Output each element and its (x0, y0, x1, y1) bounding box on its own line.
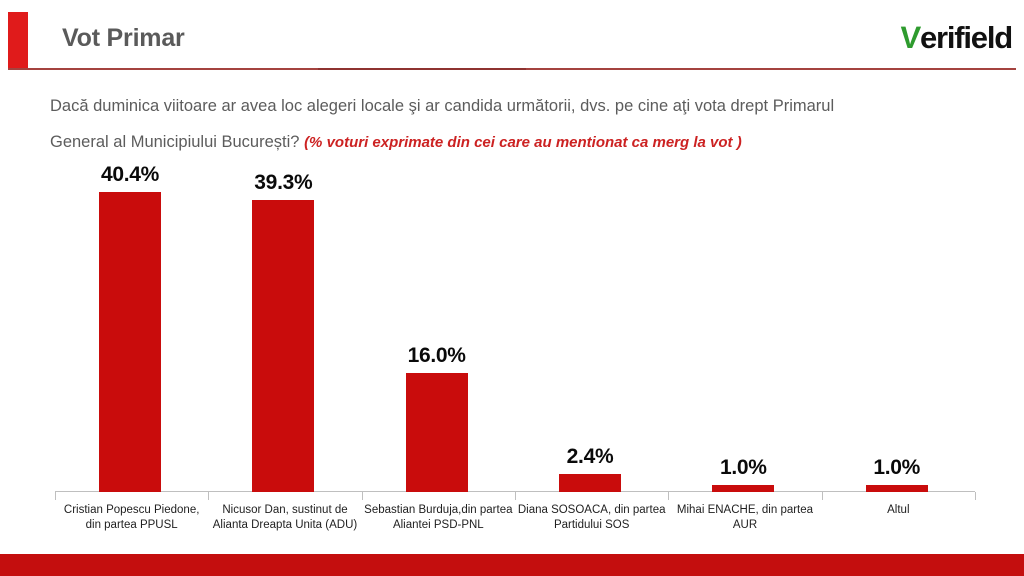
bar[interactable] (406, 373, 468, 492)
bar[interactable] (866, 485, 928, 492)
slide-header: Vot Primar Verifield (0, 0, 1024, 74)
bar-column[interactable]: 1.0% (712, 158, 774, 492)
x-axis-category-label: Altul (822, 503, 975, 518)
question-note: (% voturi exprimate din cei care au ment… (304, 134, 742, 151)
x-axis-tick (975, 492, 976, 500)
bar[interactable] (712, 485, 774, 492)
bar-column[interactable]: 1.0% (866, 158, 928, 492)
header-accent-bar (8, 12, 28, 69)
logo-checkmark-v-icon: V (900, 20, 921, 56)
bar-column[interactable]: 16.0% (406, 158, 468, 492)
logo-wordmark: erifield (920, 20, 1012, 55)
question-line-2: General al Municipiului București? (50, 133, 299, 151)
slide-root: Vot Primar Verifield Dacă duminica viito… (0, 0, 1024, 576)
x-axis-category-label: Mihai ENACHE, din partea AUR (668, 503, 821, 532)
x-axis-category-label: Diana SOSOACA, din partea Partidului SOS (515, 503, 668, 532)
bar-column[interactable]: 2.4% (559, 158, 621, 492)
bar[interactable] (559, 474, 621, 492)
verifield-logo: Verifield (900, 20, 1012, 56)
bar-value-label: 16.0% (408, 344, 466, 368)
x-axis-tick (822, 492, 823, 500)
bar-value-label: 1.0% (873, 456, 920, 480)
bar-value-label: 40.4% (101, 163, 159, 187)
bar-value-label: 39.3% (254, 171, 312, 195)
header-divider-segment (318, 68, 526, 70)
x-axis-tick (515, 492, 516, 500)
bar-chart: 40.4%Cristian Popescu Piedone, din parte… (0, 158, 1024, 548)
bar-value-label: 2.4% (567, 445, 614, 469)
x-axis-category-label: Sebastian Burduja,din partea Aliantei PS… (362, 503, 515, 532)
x-axis-tick (208, 492, 209, 500)
bar-value-label: 1.0% (720, 456, 767, 480)
page-title: Vot Primar (62, 24, 185, 53)
bar[interactable] (252, 200, 314, 492)
x-axis-tick (55, 492, 56, 500)
x-axis-tick (362, 492, 363, 500)
bar-column[interactable]: 40.4% (99, 158, 161, 492)
bar[interactable] (99, 192, 161, 492)
x-axis-tick (668, 492, 669, 500)
question-line-1: Dacă duminica viitoare ar avea loc alege… (50, 97, 834, 115)
x-axis-category-label: Cristian Popescu Piedone, din partea PPU… (55, 503, 208, 532)
footer-accent-bar (0, 554, 1024, 576)
bar-column[interactable]: 39.3% (252, 158, 314, 492)
x-axis-category-label: Nicusor Dan, sustinut de Alianta Dreapta… (208, 503, 361, 532)
question-text: Dacă duminica viitoare ar avea loc alege… (50, 88, 1010, 161)
